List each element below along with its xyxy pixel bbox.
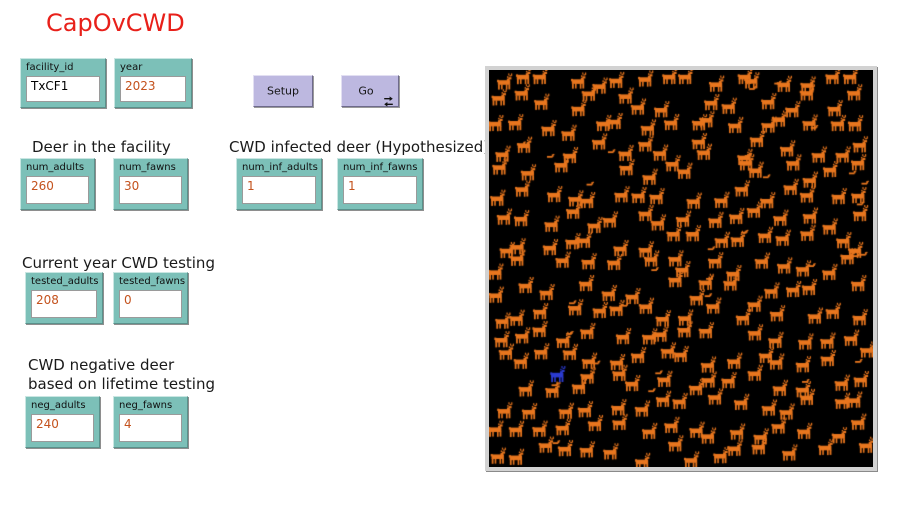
input-value-tested-fawns: 0 [120, 291, 181, 307]
input-year[interactable]: year 2023 [114, 58, 192, 108]
input-box-year[interactable]: 2023 [120, 76, 186, 102]
input-label-tested-adults: tested_adults [26, 275, 102, 288]
go-button[interactable]: Go [341, 75, 399, 107]
input-num-inf-fawns[interactable]: num_inf_fawns 1 [337, 158, 423, 210]
input-box-tested-fawns[interactable]: 0 [119, 290, 182, 318]
input-label-tested-fawns: tested_fawns [114, 275, 187, 288]
input-box-neg-fawns[interactable]: 4 [119, 414, 182, 442]
world-canvas[interactable] [489, 70, 873, 467]
input-box-num-inf-adults[interactable]: 1 [242, 176, 316, 204]
input-value-neg-fawns: 4 [120, 415, 181, 431]
input-box-facility-id[interactable]: TxCF1 [26, 76, 100, 102]
model-title: CapOvCWD [46, 9, 185, 37]
input-facility-id[interactable]: facility_id TxCF1 [20, 58, 106, 108]
input-box-num-inf-fawns[interactable]: 1 [343, 176, 417, 204]
input-value-num-inf-fawns: 1 [344, 177, 416, 193]
input-box-neg-adults[interactable]: 240 [31, 414, 94, 442]
input-num-adults[interactable]: num_adults 260 [20, 158, 95, 210]
input-label-year: year [115, 61, 191, 74]
input-box-num-adults[interactable]: 260 [26, 176, 89, 204]
input-value-neg-adults: 240 [32, 415, 93, 431]
input-value-year: 2023 [121, 77, 185, 93]
input-num-fawns[interactable]: num_fawns 30 [113, 158, 188, 210]
setup-button-label: Setup [254, 85, 312, 98]
input-label-neg-fawns: neg_fawns [114, 399, 187, 412]
input-label-num-fawns: num_fawns [114, 161, 187, 174]
section-label-cwd-infected: CWD infected deer (Hypothesized) [229, 138, 489, 157]
forever-loop-icon [383, 92, 394, 103]
input-box-tested-adults[interactable]: 208 [31, 290, 97, 318]
input-neg-fawns[interactable]: neg_fawns 4 [113, 396, 188, 448]
input-label-num-inf-fawns: num_inf_fawns [338, 161, 422, 174]
input-label-num-inf-adults: num_inf_adults [237, 161, 321, 174]
input-label-neg-adults: neg_adults [26, 399, 99, 412]
setup-button[interactable]: Setup [253, 75, 313, 107]
input-num-inf-adults[interactable]: num_inf_adults 1 [236, 158, 322, 210]
section-label-current-year-testing: Current year CWD testing [22, 254, 215, 273]
input-label-num-adults: num_adults [21, 161, 94, 174]
netlogo-world-view[interactable] [485, 66, 877, 471]
input-value-num-inf-adults: 1 [243, 177, 315, 193]
input-box-num-fawns[interactable]: 30 [119, 176, 182, 204]
section-label-deer-in-facility: Deer in the facility [32, 138, 171, 157]
input-label-facility-id: facility_id [21, 61, 105, 74]
input-value-num-adults: 260 [27, 177, 88, 193]
input-value-num-fawns: 30 [120, 177, 181, 193]
input-neg-adults[interactable]: neg_adults 240 [25, 396, 100, 448]
input-tested-fawns[interactable]: tested_fawns 0 [113, 272, 188, 324]
section-label-cwd-negative: CWD negative deer based on lifetime test… [28, 356, 215, 394]
input-tested-adults[interactable]: tested_adults 208 [25, 272, 103, 324]
input-value-facility-id: TxCF1 [27, 77, 99, 93]
input-value-tested-adults: 208 [32, 291, 96, 307]
